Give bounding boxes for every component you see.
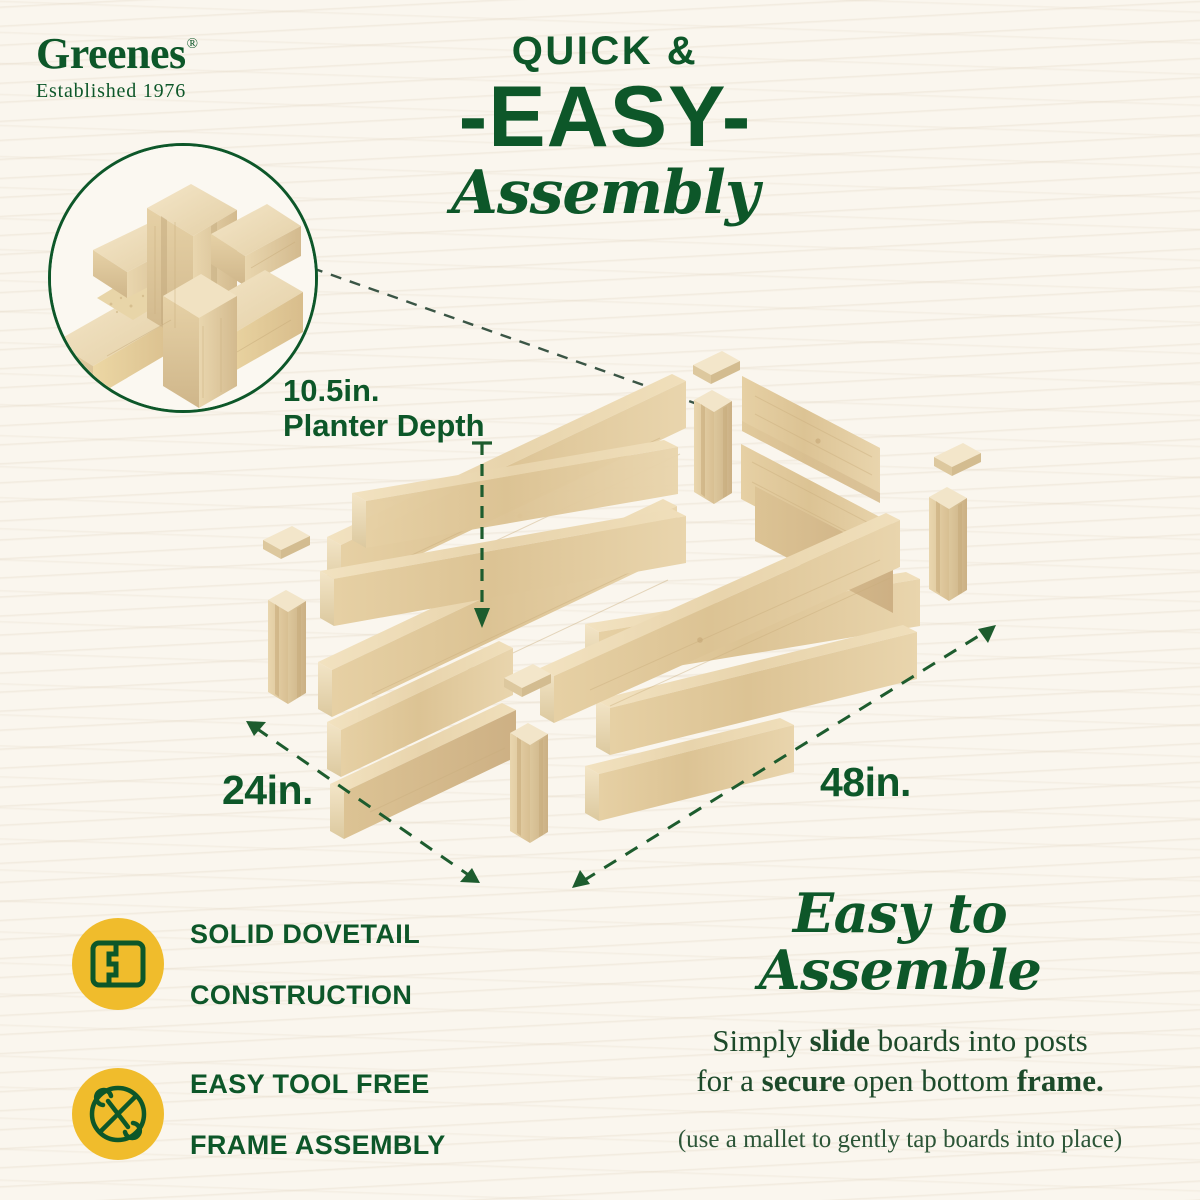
easy-body-copy: Simply slide boards into posts for a sec… bbox=[600, 1021, 1200, 1100]
no-tools-wrench-icon bbox=[87, 1083, 149, 1145]
length-dimension-label: 48in. bbox=[820, 760, 911, 806]
post-back-center bbox=[694, 390, 732, 504]
easy-script-line-1: Easy to bbox=[600, 885, 1200, 942]
width-dimension-label: 24in. bbox=[222, 768, 313, 814]
easy-to-assemble-block: Easy to Assemble Simply slide boards int… bbox=[600, 885, 1200, 1154]
easy-script-heading: Easy to Assemble bbox=[600, 885, 1200, 999]
post-right bbox=[929, 487, 967, 601]
feature-solid-dovetail: SOLID DOVETAIL CONSTRUCTION bbox=[72, 888, 420, 1041]
easy-body-line-1: Simply slide boards into posts bbox=[600, 1021, 1200, 1060]
tool-free-feature-text: EASY TOOL FREE FRAME ASSEMBLY bbox=[190, 1038, 446, 1191]
easy-body-line-2: for a secure open bottom frame. bbox=[600, 1061, 1200, 1100]
depth-dimension-label: 10.5in. Planter Depth bbox=[283, 374, 485, 443]
dovetail-badge bbox=[72, 918, 164, 1010]
depth-value: 10.5in. bbox=[283, 374, 485, 409]
dovetail-line-1: SOLID DOVETAIL bbox=[190, 919, 420, 950]
easy-script-line-2: Assemble bbox=[600, 942, 1200, 999]
depth-caption: Planter Depth bbox=[283, 409, 485, 444]
dovetail-joint-icon bbox=[90, 939, 146, 989]
dovetail-line-2: CONSTRUCTION bbox=[190, 980, 420, 1011]
tool-free-line-2: FRAME ASSEMBLY bbox=[190, 1130, 446, 1161]
feature-tool-free-assembly: EASY TOOL FREE FRAME ASSEMBLY bbox=[72, 1038, 446, 1191]
tool-free-badge bbox=[72, 1068, 164, 1160]
easy-mallet-note: (use a mallet to gently tap boards into … bbox=[600, 1126, 1200, 1154]
tool-free-line-1: EASY TOOL FREE bbox=[190, 1069, 446, 1100]
dovetail-feature-text: SOLID DOVETAIL CONSTRUCTION bbox=[190, 888, 420, 1041]
post-left bbox=[268, 590, 306, 704]
post-front bbox=[510, 723, 548, 843]
